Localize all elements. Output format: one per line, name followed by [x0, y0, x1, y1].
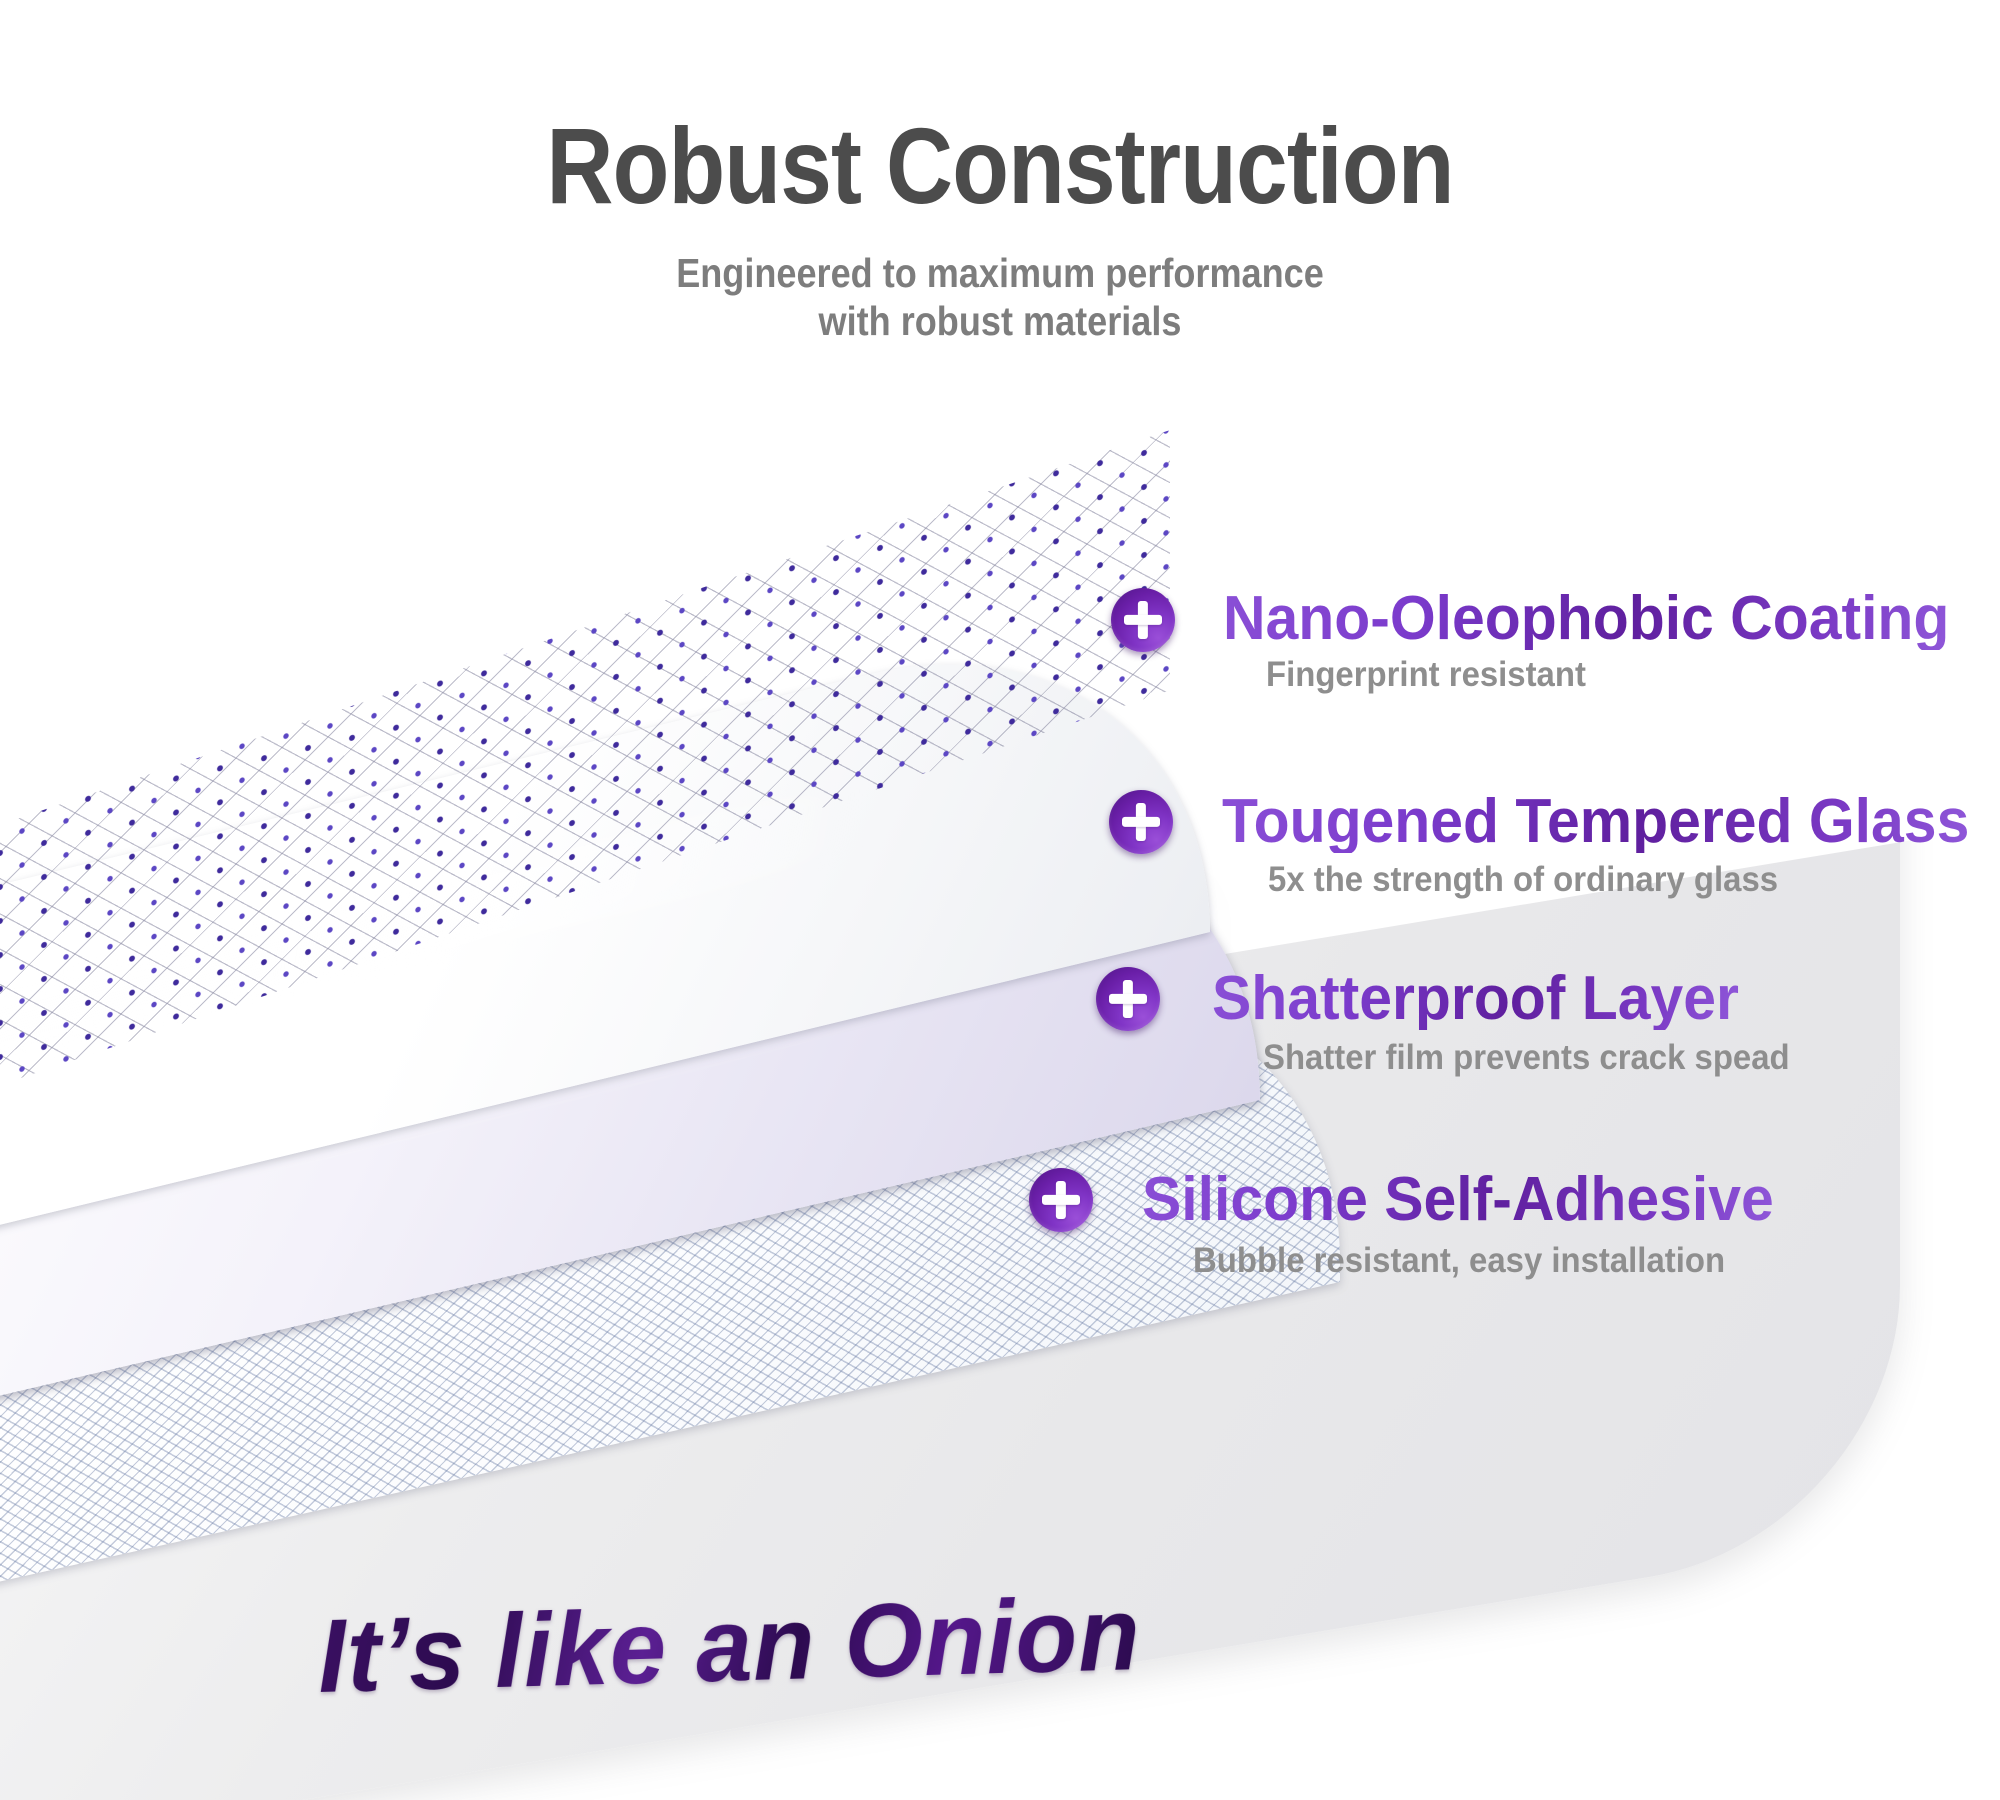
layer-subtitle: Fingerprint resistant — [1266, 657, 1586, 692]
page-subtitle: Engineered to maximum performance with r… — [120, 250, 1880, 345]
poster-canvas: Robust Construction Engineered to maximu… — [0, 0, 2000, 1800]
layer-title: Shatterproof Layer — [1212, 968, 1739, 1030]
plus-icon[interactable] — [1109, 790, 1173, 854]
header: Robust Construction Engineered to maximu… — [0, 0, 2000, 345]
page-title: Robust Construction — [140, 112, 1860, 220]
plus-icon[interactable] — [1096, 967, 1160, 1031]
tagline: It’s like an Onion — [316, 1575, 1142, 1717]
layer-subtitle: Bubble resistant, easy installation — [1193, 1243, 1725, 1278]
layer-subtitle: 5x the strength of ordinary glass — [1268, 862, 1778, 897]
layer-subtitle: Shatter film prevents crack spead — [1263, 1040, 1790, 1075]
plus-icon[interactable] — [1111, 588, 1175, 652]
layer-title: Tougened Tempered Glass — [1222, 791, 1969, 853]
layer-title: Silicone Self-Adhesive — [1142, 1169, 1774, 1231]
plus-icon[interactable] — [1029, 1168, 1093, 1232]
layer-title: Nano-Oleophobic Coating — [1223, 588, 1949, 650]
